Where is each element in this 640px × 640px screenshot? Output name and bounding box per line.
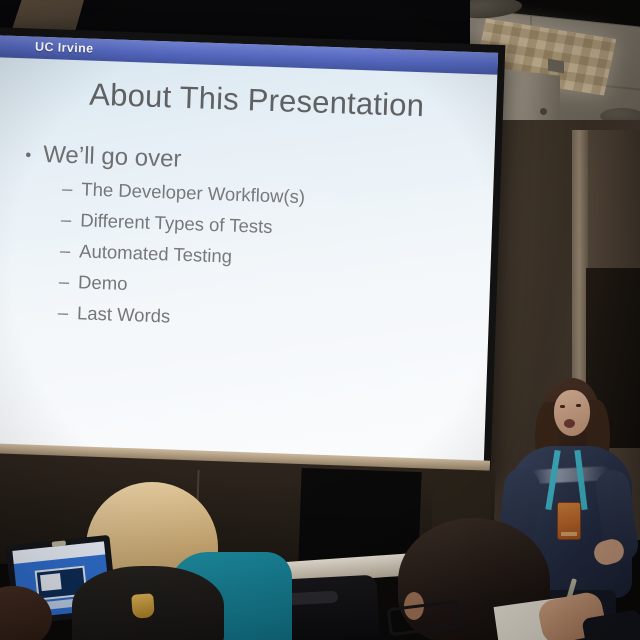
projection-screen: UC Irvine About This Presentation • We’l… <box>0 27 505 477</box>
dash-marker-icon: – <box>60 240 71 262</box>
presenter-face <box>554 390 590 436</box>
slide-bullet-list: • We’ll go over – The Developer Workflow… <box>19 140 484 347</box>
dash-marker-icon: – <box>62 178 73 200</box>
list-item: – Different Types of Tests <box>61 209 483 246</box>
slide-banner-label: UC Irvine <box>35 40 94 56</box>
dash-marker-icon: – <box>58 271 69 293</box>
sub-item-text: Demo <box>78 271 128 295</box>
laptop-screen-content <box>40 573 62 591</box>
bullet-marker-icon: • <box>25 140 32 170</box>
dash-marker-icon: – <box>61 209 72 231</box>
presenter-eye <box>560 405 565 408</box>
bullet-level1-text: We’ll go over <box>43 141 182 174</box>
slide: UC Irvine About This Presentation • We’l… <box>0 35 498 468</box>
presenter-mouth <box>564 419 575 428</box>
presenter-eye <box>576 404 581 407</box>
slide-title: About This Presentation <box>89 77 425 125</box>
beanie-emblem-icon <box>131 593 155 618</box>
list-item: – Automated Testing <box>60 240 482 277</box>
dash-marker-icon: – <box>57 302 68 324</box>
sub-item-text: Last Words <box>77 302 171 327</box>
speaker-mount <box>548 59 564 74</box>
sub-item-text: The Developer Workflow(s) <box>81 178 305 208</box>
sub-item-text: Automated Testing <box>79 240 233 267</box>
list-item: – Last Words <box>57 302 479 339</box>
presentation-photo: UC Irvine About This Presentation • We’l… <box>0 0 640 640</box>
list-item: – Demo <box>58 271 480 308</box>
presenter-badge <box>557 502 581 540</box>
sub-item-text: Different Types of Tests <box>80 209 273 238</box>
